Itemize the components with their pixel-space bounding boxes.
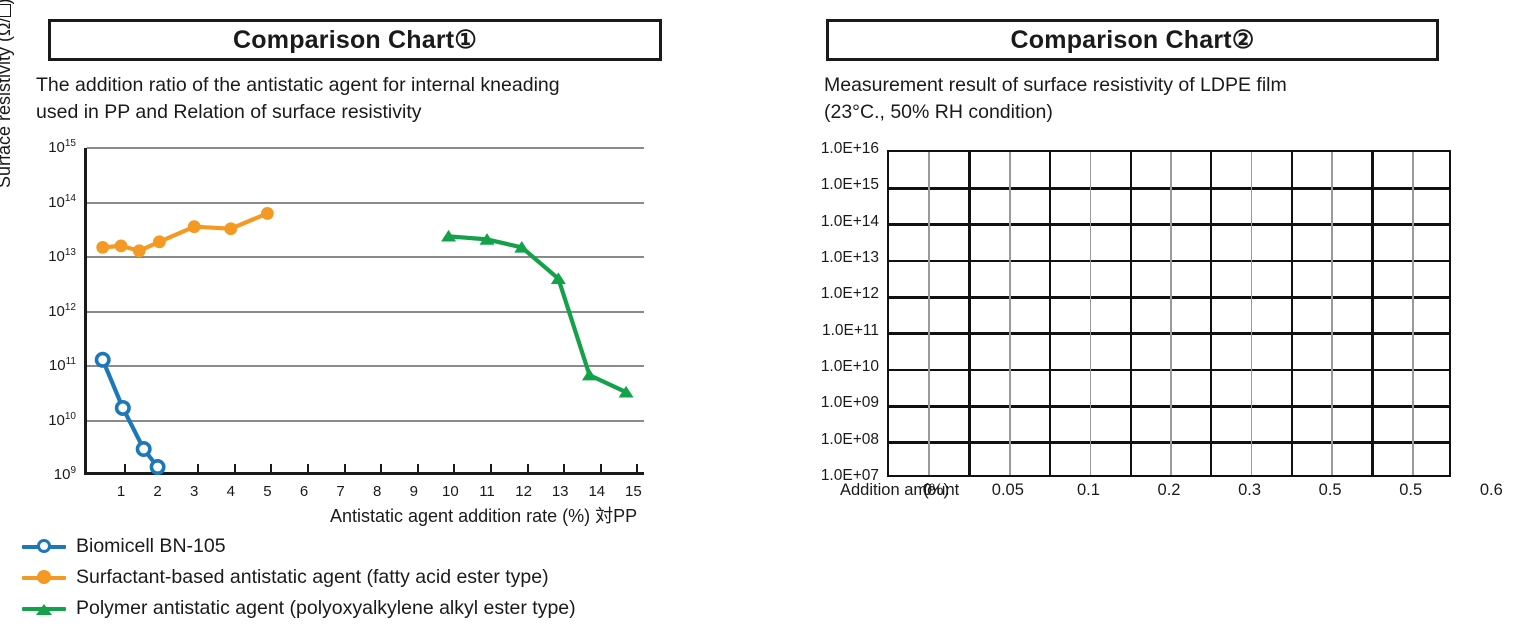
chart1-gridline <box>87 202 644 204</box>
chart2-y-tick-label: 1.0E+09 <box>0 394 879 412</box>
chart2-gridline-vertical-minor <box>1090 152 1092 475</box>
legend-key-filled-circle-icon <box>20 567 68 589</box>
chart2-gridline-horizontal <box>889 369 1449 371</box>
chart2-y-tick-label: 1.0E+15 <box>0 176 879 194</box>
chart2-gridline-vertical-major <box>1210 152 1212 475</box>
chart2-gridline-horizontal <box>889 296 1449 298</box>
legend-label: Surfactant-based antistatic agent (fatty… <box>76 566 549 589</box>
chart2-gridline-vertical-minor <box>1009 152 1011 475</box>
chart1-x-tick-label: 10 <box>430 483 470 500</box>
chart1-y-axis-label: Surface resistivity (Ω/) <box>0 0 15 188</box>
chart2-gridline-vertical-minor <box>1251 152 1253 475</box>
chart2-gridline-horizontal <box>889 187 1449 189</box>
legend-item-biomicell: Biomicell BN-105 <box>20 531 576 562</box>
chart1-subtitle: The addition ratio of the antistatic age… <box>36 72 696 126</box>
chart2-x-tick-label: 0.5 <box>1376 481 1446 500</box>
chart2-x-tick-label: 0.6 <box>1456 481 1521 500</box>
legend-item-surfactant: Surfactant-based antistatic agent (fatty… <box>20 562 576 593</box>
chart2-header-text: Comparison Chart② <box>1011 28 1255 53</box>
chart2-gridline-horizontal <box>889 441 1449 443</box>
chart1-x-tick-label: 4 <box>211 483 251 500</box>
chart2-y-tick-label: 1.0E+14 <box>0 213 879 231</box>
chart1-y-tick-label: 1014 <box>0 193 76 211</box>
chart2-y-tick-label: 1.0E+07 <box>0 467 879 485</box>
chart2-gridline-vertical-major <box>968 152 970 475</box>
chart2-header-box: Comparison Chart② <box>826 19 1439 61</box>
chart2-x-tick-label: 0.1 <box>1053 481 1123 500</box>
legend-label: Biomicell BN-105 <box>76 535 226 558</box>
chart2-x-tick-label: 0.05 <box>973 481 1043 500</box>
chart2-x-tick-label: 0.3 <box>1215 481 1285 500</box>
chart1-y-tick-label: 1012 <box>0 302 76 320</box>
chart1-x-tick-label: 7 <box>321 483 361 500</box>
chart2-x-axis-unit: (%) <box>923 481 983 500</box>
chart1-y-tick-label: 1010 <box>0 411 76 429</box>
chart2-plot-area <box>887 150 1451 477</box>
chart2-gridline-horizontal <box>889 332 1449 334</box>
chart2-gridline-vertical-major <box>1291 152 1293 475</box>
chart1-header-box: Comparison Chart① <box>48 19 662 61</box>
legend-key-triangle-icon <box>20 598 68 620</box>
chart1-x-tick-label: 8 <box>357 483 397 500</box>
chart2-gridline-vertical-minor <box>1170 152 1172 475</box>
chart2-gridline-vertical-major <box>1049 152 1051 475</box>
chart2-gridline-horizontal <box>889 223 1449 225</box>
chart1-x-tick-label: 11 <box>467 483 507 500</box>
comparison-chart-1-panel: Comparison Chart① The addition ratio of … <box>0 0 760 634</box>
chart1-x-tick-label: 12 <box>504 483 544 500</box>
legend-label: Polymer antistatic agent (polyoxyalkylen… <box>76 597 576 620</box>
chart1-x-tick-label: 14 <box>577 483 617 500</box>
chart1-x-tick-label: 3 <box>174 483 214 500</box>
chart2-subtitle: Measurement result of surface resistivit… <box>824 72 1484 126</box>
chart1-x-tick-label: 1 <box>101 483 141 500</box>
chart2-gridline-vertical-minor <box>1331 152 1333 475</box>
chart1-x-tick-label: 13 <box>540 483 580 500</box>
legend-key-open-circle-icon <box>20 536 68 558</box>
square-symbol-icon <box>0 5 11 18</box>
chart2-y-tick-label: 1.0E+13 <box>0 249 879 267</box>
chart1-gridline <box>87 311 644 313</box>
chart2-gridline-vertical-minor <box>928 152 930 475</box>
chart2-x-tick-label: 0.5 <box>1295 481 1365 500</box>
chart2-gridline-horizontal <box>889 405 1449 407</box>
chart1-gridline <box>87 420 644 422</box>
chart1-plot-area <box>84 148 644 475</box>
chart2-gridline-horizontal <box>889 260 1449 262</box>
chart1-x-tick-label: 15 <box>613 483 653 500</box>
chart2-y-tick-label: 1.0E+12 <box>0 285 879 303</box>
chart2-y-tick-label: 1.0E+11 <box>0 322 879 340</box>
chart2-x-tick-label: 0.2 <box>1134 481 1204 500</box>
chart2-gridline-vertical-major <box>1371 152 1373 475</box>
chart1-x-axis-label: Antistatic agent addition rate (%) 対PP <box>330 502 637 528</box>
legend-item-polymer: Polymer antistatic agent (polyoxyalkylen… <box>20 593 576 624</box>
chart2-y-tick-label: 1.0E+10 <box>0 358 879 376</box>
chart2-y-tick-label: 1.0E+16 <box>0 140 879 158</box>
chart1-x-tick-label: 2 <box>138 483 178 500</box>
chart1-header-text: Comparison Chart① <box>233 28 477 53</box>
chart1-x-tick-label: 6 <box>284 483 324 500</box>
chart1-legend: Biomicell BN-105 Surfactant-based antist… <box>20 531 576 624</box>
chart1-x-tick-label: 5 <box>247 483 287 500</box>
chart1-x-tick-label: 9 <box>394 483 434 500</box>
chart2-y-tick-label: 1.0E+08 <box>0 431 879 449</box>
chart2-gridline-vertical-minor <box>1412 152 1414 475</box>
chart2-gridline-vertical-major <box>1130 152 1132 475</box>
